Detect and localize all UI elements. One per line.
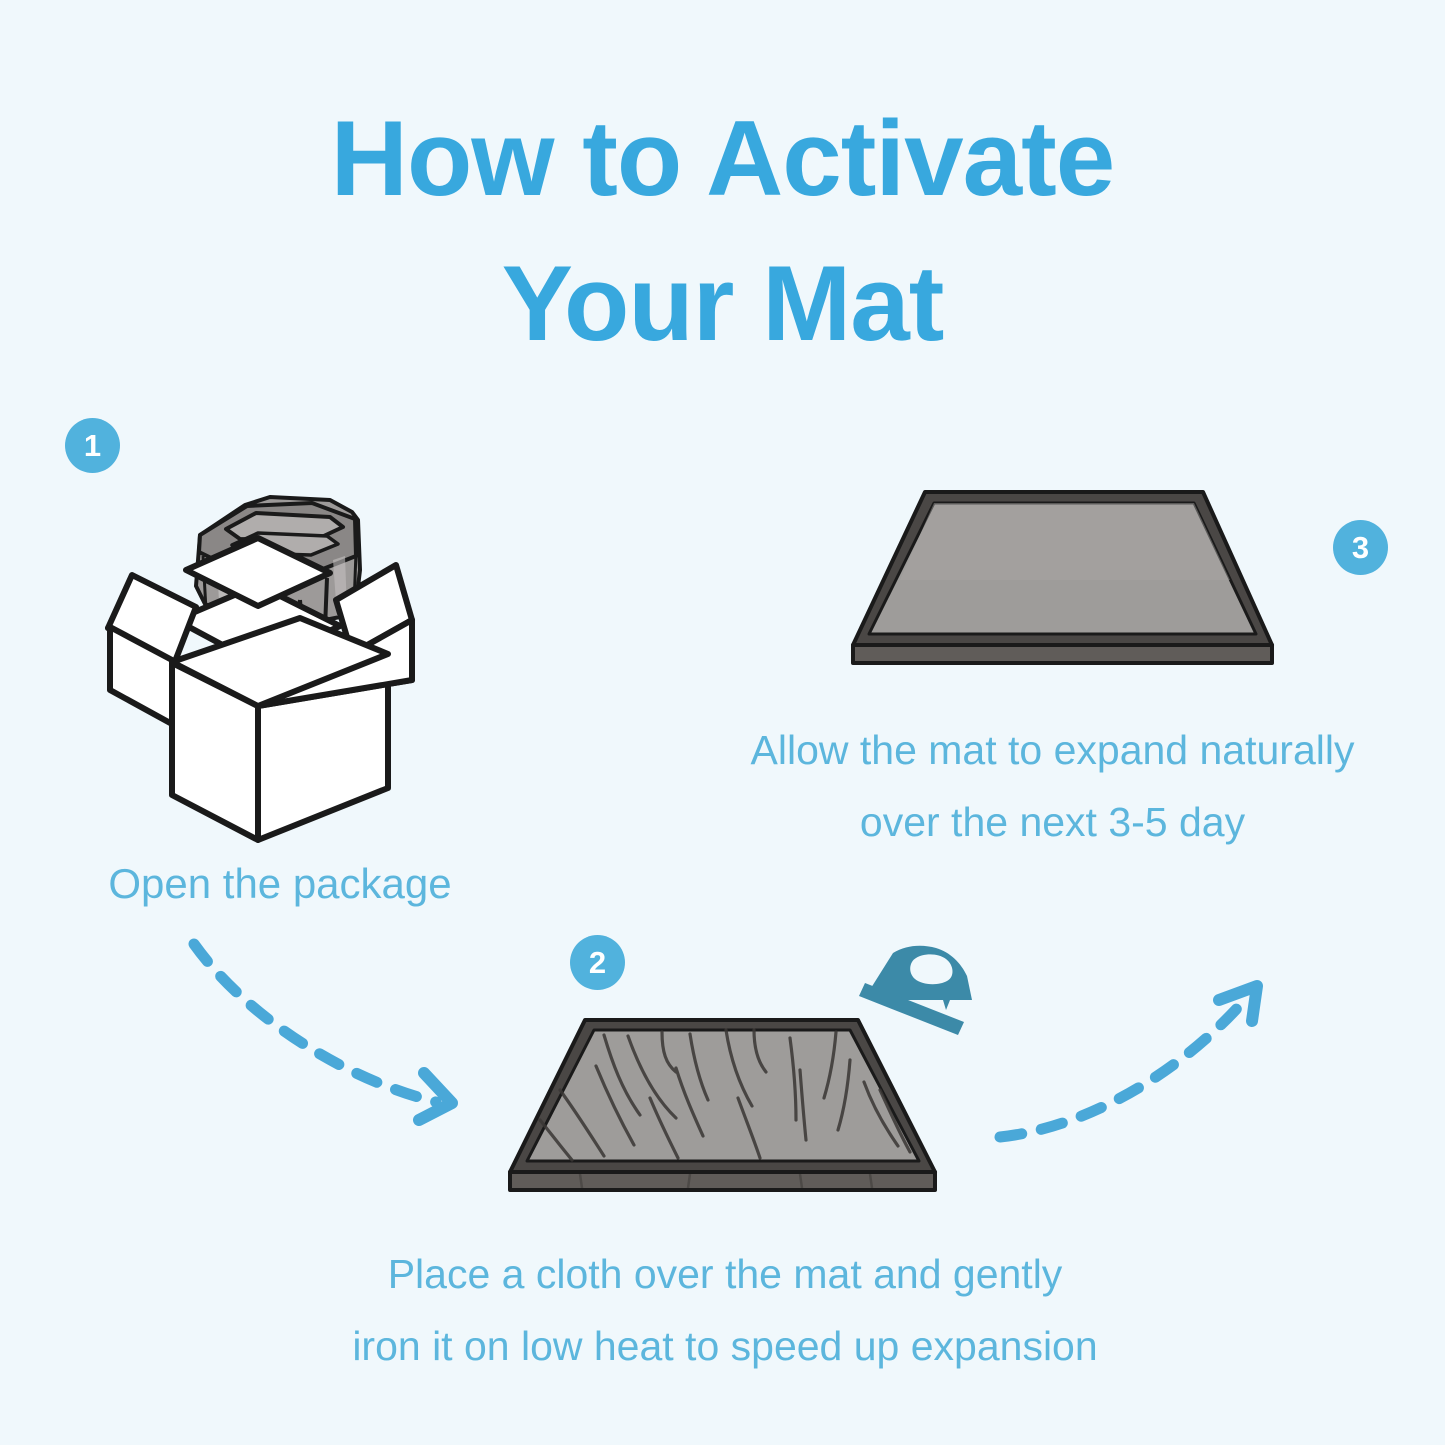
title-line-2: Your Mat [0,231,1445,376]
cloth-wrinkles [540,1030,910,1160]
step-3-caption-line-2: over the next 3-5 day [660,786,1445,858]
title-line-1: How to Activate [0,86,1445,231]
step-1-caption-line-1: Open the package [0,848,560,920]
mat-with-cloth-icon [510,1020,935,1190]
step-badge-2: 2 [570,935,625,990]
step-badge-1: 1 [65,418,120,473]
step-3-caption-line-1: Allow the mat to expand naturally [660,714,1445,786]
packaged-mat-shape [196,497,360,660]
arrow-step2-to-step3 [1000,986,1257,1137]
step-1-caption: Open the package [0,848,560,920]
open-box-icon [108,497,412,840]
arrow-step1-to-step2 [194,944,452,1120]
expanded-mat-icon [853,492,1272,663]
iron-icon [859,946,972,1035]
page-title: How to Activate Your Mat [0,86,1445,376]
step-3-caption: Allow the mat to expand naturally over t… [660,714,1445,858]
infographic-canvas: How to Activate Your Mat [0,0,1445,1445]
step-2-caption-line-1: Place a cloth over the mat and gently [215,1238,1235,1310]
step-badge-3: 3 [1333,520,1388,575]
step-2-caption-line-2: iron it on low heat to speed up expansio… [215,1310,1235,1382]
step-2-caption: Place a cloth over the mat and gently ir… [215,1238,1235,1382]
